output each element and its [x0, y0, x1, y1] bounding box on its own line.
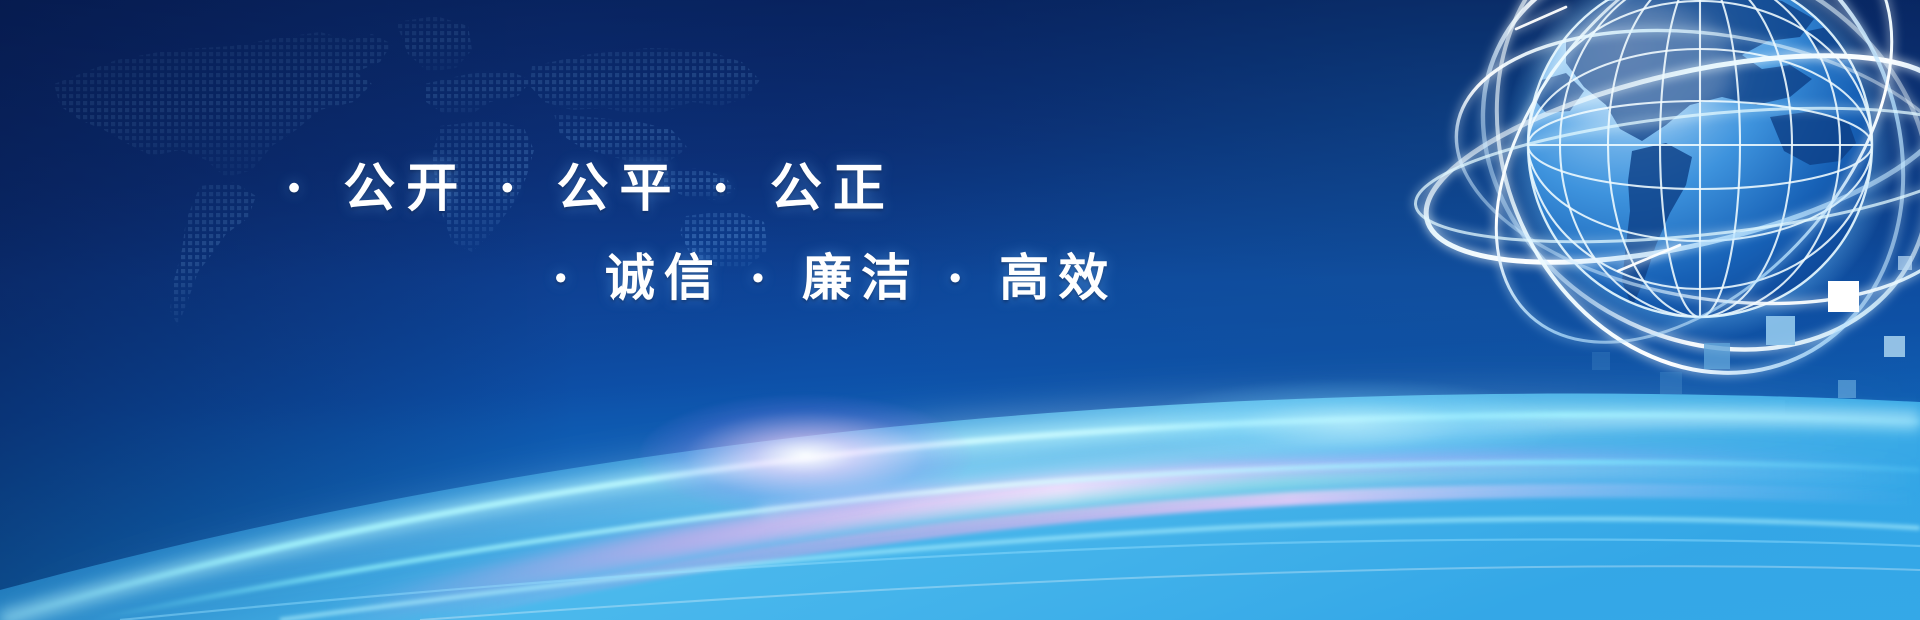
square-6-icon [1770, 400, 1785, 415]
flowing-light-wave [0, 290, 1920, 620]
square-2-icon [1766, 316, 1795, 345]
square-5-icon [1838, 380, 1856, 398]
square-9-icon [1898, 256, 1912, 270]
slogan-block: · 公开 · 公平 · 公正 · 诚信 · 廉洁 · 高效 [0, 0, 1150, 360]
square-7-icon [1660, 372, 1682, 394]
top-shade-overlay [0, 0, 1920, 620]
square-4-icon [1884, 336, 1905, 357]
slogan-line-2: · 诚信 · 廉洁 · 高效 [552, 238, 1117, 310]
square-1-icon [1828, 281, 1859, 312]
promo-banner: · 公开 · 公平 · 公正 · 诚信 · 廉洁 · 高效 [0, 0, 1920, 620]
dotted-world-map [20, 10, 780, 340]
left-shade-overlay [0, 0, 1920, 620]
globe-with-orbit-rings [1370, 0, 1920, 465]
wave-light-burst [640, 395, 970, 515]
wave-light-burst-secondary [1140, 380, 1560, 470]
square-3-icon [1704, 343, 1730, 369]
square-8-icon [1592, 352, 1610, 370]
slogan-line-1: · 公开 · 公平 · 公正 [285, 146, 896, 221]
